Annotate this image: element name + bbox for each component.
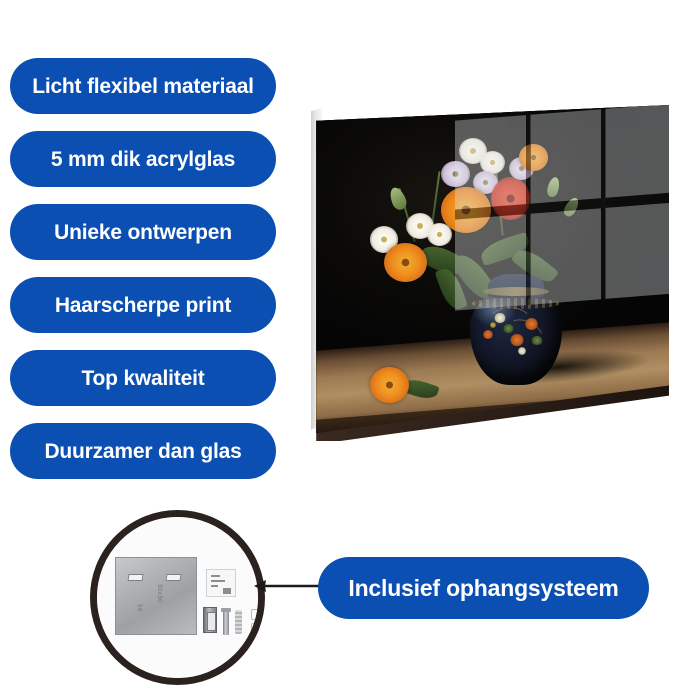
acrylic-panel-product-image — [305, 95, 677, 445]
artwork-vase-motif — [483, 330, 493, 340]
feature-badge-haarscherpe-print[interactable]: Haarscherpe print — [10, 277, 276, 333]
artwork-flower-white — [427, 223, 452, 246]
instruction-card — [206, 569, 236, 597]
feature-badge-label: 5 mm dik acrylglas — [51, 149, 235, 170]
feature-badge-unieke-ontwerpen[interactable]: Unieke ontwerpen — [10, 204, 276, 260]
artwork-flower-orange — [519, 144, 547, 170]
instruction-mark — [211, 580, 225, 582]
mounting-plate-slot — [166, 574, 182, 581]
mounting-plate-slot — [128, 574, 144, 581]
screw — [223, 608, 229, 635]
artwork-vase-band — [472, 298, 559, 308]
callout-badge-inclusief-ophangsysteem[interactable]: Inclusief ophangsysteem — [318, 557, 649, 619]
mounting-bracket — [203, 607, 217, 633]
product-feature-graphic: Licht flexibel materiaal 5 mm dik acrylg… — [0, 0, 700, 700]
artwork-flower-red — [491, 177, 530, 220]
mounting-kit-photo: 30x30 50 — [90, 510, 265, 685]
artwork-vase-motif — [494, 313, 506, 324]
callout-badge-label: Inclusief ophangsysteem — [348, 577, 618, 600]
artwork-vase-motif — [518, 347, 526, 355]
feature-badge-label: Licht flexibel materiaal — [32, 76, 254, 97]
feature-badge-5-mm-dik-acrylglas[interactable]: 5 mm dik acrylglas — [10, 131, 276, 187]
artwork-flower-lilac — [441, 161, 469, 187]
feature-badge-top-kwaliteit[interactable]: Top kwaliteit — [10, 350, 276, 406]
instruction-mark — [223, 588, 231, 594]
wall-plug — [235, 610, 242, 634]
feature-badge-label: Unieke ontwerpen — [54, 222, 232, 243]
plate-marking: 50 — [136, 604, 142, 612]
feature-badge-label: Haarscherpe print — [55, 295, 231, 316]
feature-badge-licht-flexibel-materiaal[interactable]: Licht flexibel materiaal — [10, 58, 276, 114]
artwork-vase — [470, 274, 563, 386]
feature-badge-label: Duurzamer dan glas — [44, 441, 241, 462]
artwork-vase-motif — [503, 324, 514, 333]
mounting-kit-circle: 30x30 50 — [90, 510, 265, 685]
instruction-mark — [211, 575, 220, 577]
feature-badge-label: Top kwaliteit — [81, 368, 204, 389]
artwork-flower-orange — [384, 243, 427, 282]
mounting-plate: 30x30 50 — [115, 557, 197, 635]
instruction-mark — [211, 585, 218, 587]
plate-marking: 30x30 — [156, 584, 162, 603]
spacer — [251, 609, 263, 620]
spacer — [251, 623, 263, 634]
artwork-vase-motif — [525, 318, 538, 330]
feature-badge-duurzamer-dan-glas[interactable]: Duurzamer dan glas — [10, 423, 276, 479]
artwork-vase-motif — [531, 336, 543, 346]
artwork-surface — [313, 105, 669, 433]
callout-arrow-icon — [252, 573, 328, 599]
